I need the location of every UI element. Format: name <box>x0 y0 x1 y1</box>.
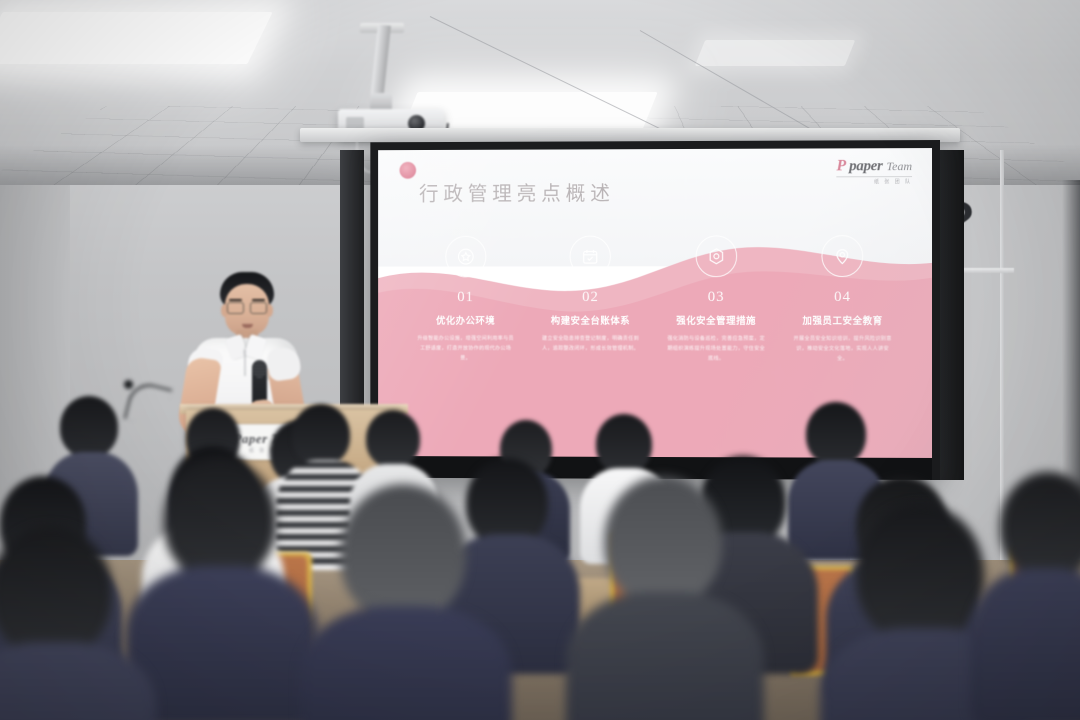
card-description: 强化消防与设备巡检，完善应急预案，定期组织演练提升现场处置能力，守住安全底线。 <box>661 335 772 365</box>
card-description: 建立安全隐患排查登记制度，明确责任到人，追踪整改闭环，形成长效管理机制。 <box>535 335 645 355</box>
microphone-grille <box>253 361 266 378</box>
slide-card: 02 构建安全台账体系 建立安全隐患排查登记制度，明确责任到人，追踪整改闭环，形… <box>535 236 645 355</box>
slide-card: 03 强化安全管理措施 强化消防与设备巡检，完善应急预案，定期组织演练提升现场处… <box>661 235 772 364</box>
card-number: 03 <box>661 289 772 306</box>
star-icon <box>445 236 486 278</box>
ceiling-light-panel <box>695 40 856 66</box>
card-number: 01 <box>411 289 521 306</box>
accent-dot-icon <box>400 162 417 179</box>
slide-card: 01 优化办公环境 升级智能办公设施，增强空间利用率与员工舒适度，打造开放协作的… <box>411 236 521 364</box>
card-number: 02 <box>535 289 645 306</box>
logo-name: paper <box>849 159 882 174</box>
card-number: 04 <box>787 289 899 306</box>
slide-logo: P paper Team 纸 张 团 队 <box>836 158 912 185</box>
logo-team: Team <box>887 160 913 172</box>
hexagon-shield-icon <box>695 235 737 277</box>
ceiling-light-panel <box>0 12 273 64</box>
conference-room-photo: ? 说吧 行政管理亮点概述 P paper Team 纸 张 团 队 <box>0 0 1080 720</box>
slide-title: 行政管理亮点概述 <box>419 177 615 206</box>
card-label: 强化安全管理措施 <box>661 313 772 327</box>
glasses-icon <box>226 302 268 313</box>
card-label: 优化办公环境 <box>411 313 521 327</box>
card-description: 开展全员安全知识培训，提升风险识别意识，推动安全文化落地，实现人人讲安全。 <box>787 335 899 365</box>
logo-subtitle: 纸 张 团 队 <box>836 176 912 185</box>
card-label: 加强员工安全教育 <box>787 313 899 327</box>
location-pin-icon <box>822 235 864 277</box>
slide-card: 04 加强员工安全教育 开展全员安全知识培训，提升风险识别意识，推动安全文化落地… <box>787 235 899 364</box>
presenter-shirt-placket <box>244 350 246 376</box>
logo-mark: P <box>836 158 845 174</box>
card-label: 构建安全台账体系 <box>535 313 645 327</box>
projector-mount-pole <box>370 25 391 102</box>
calendar-check-icon <box>570 236 611 278</box>
audience <box>0 380 1080 720</box>
card-description: 升级智能办公设施，增强空间利用率与员工舒适度，打造开放协作的现代办公场景。 <box>411 335 521 364</box>
